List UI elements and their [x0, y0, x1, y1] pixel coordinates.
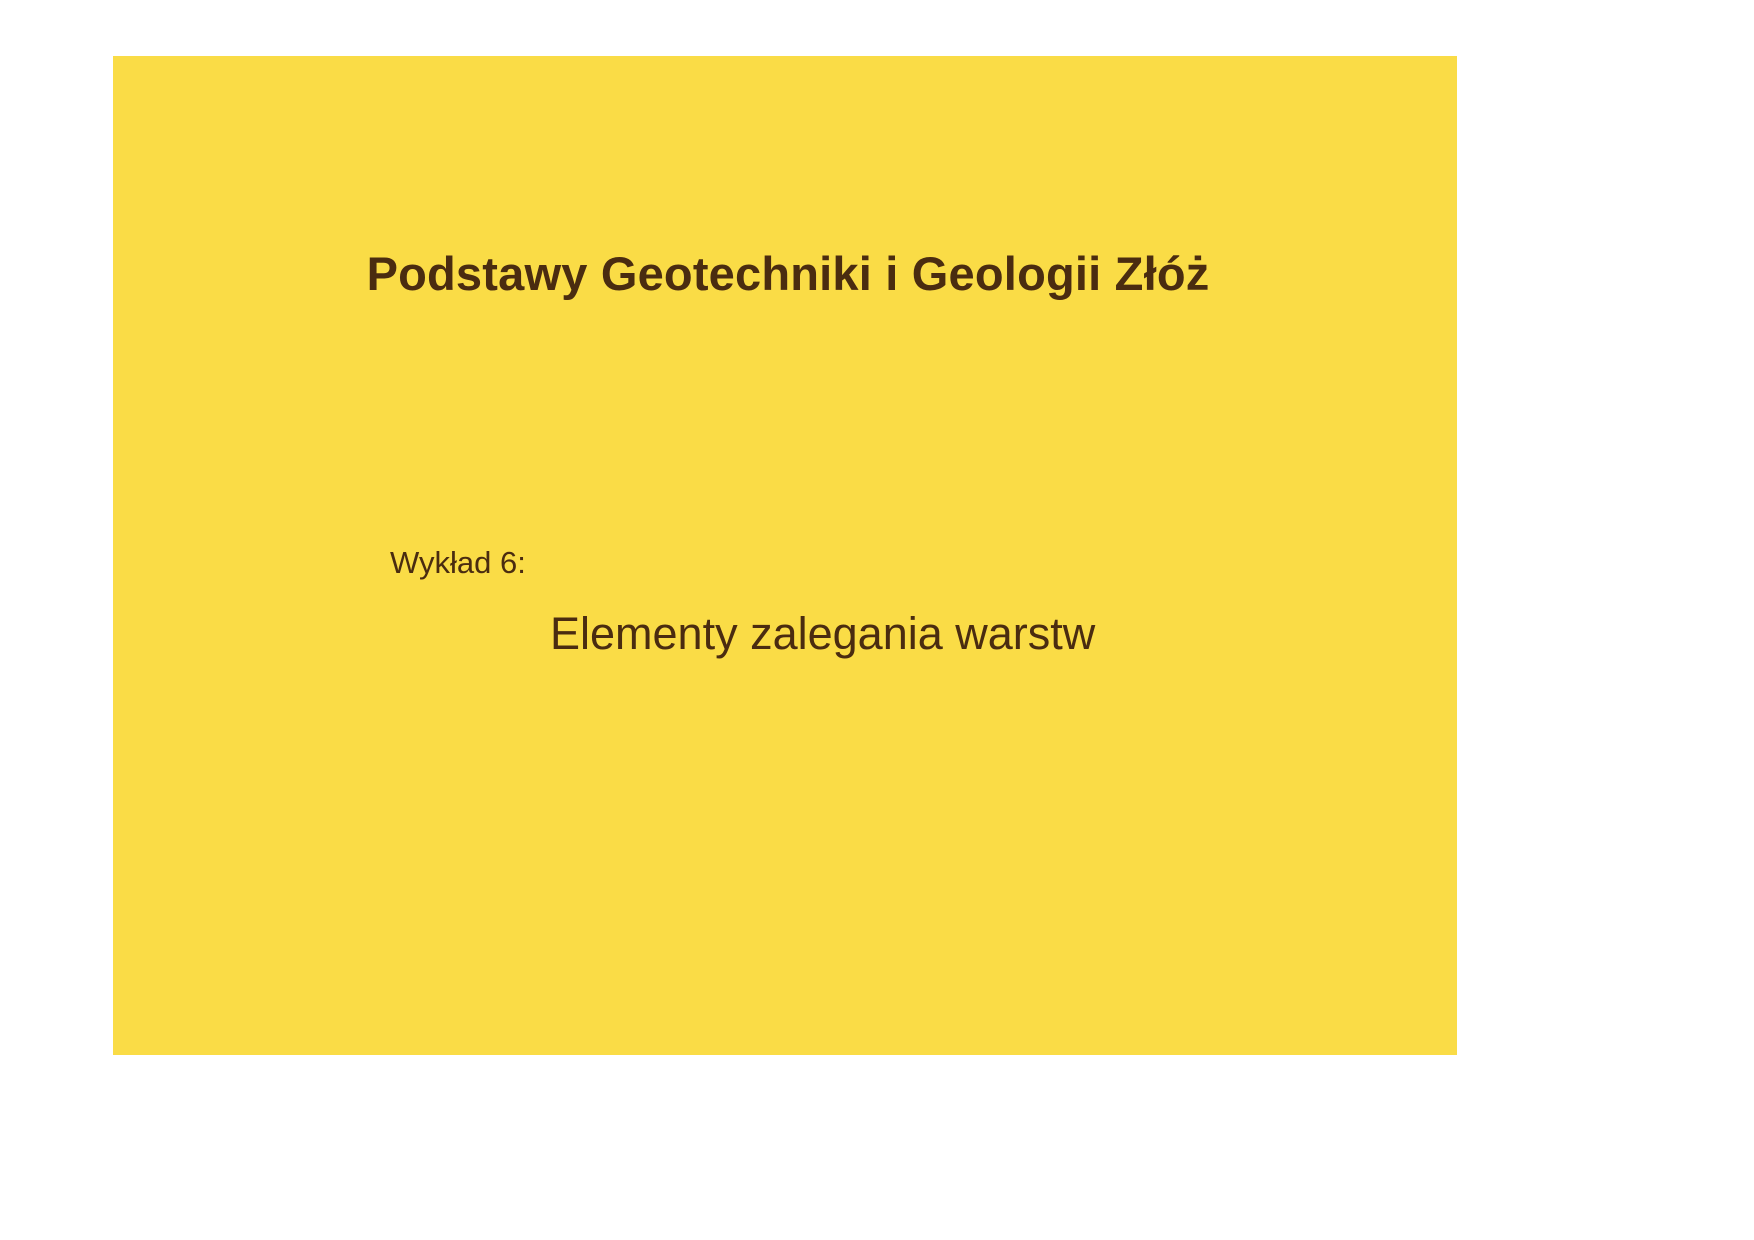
lecture-number-label: Wykład 6: [390, 545, 526, 581]
slide-root: Podstawy Geotechniki i Geologii Złóż Wyk… [0, 0, 1754, 1240]
slide-content-panel: Podstawy Geotechniki i Geologii Złóż Wyk… [113, 56, 1457, 1055]
page-title: Podstawy Geotechniki i Geologii Złóż [253, 248, 1323, 300]
lecture-subject-heading: Elementy zalegania warstw [550, 608, 1095, 660]
